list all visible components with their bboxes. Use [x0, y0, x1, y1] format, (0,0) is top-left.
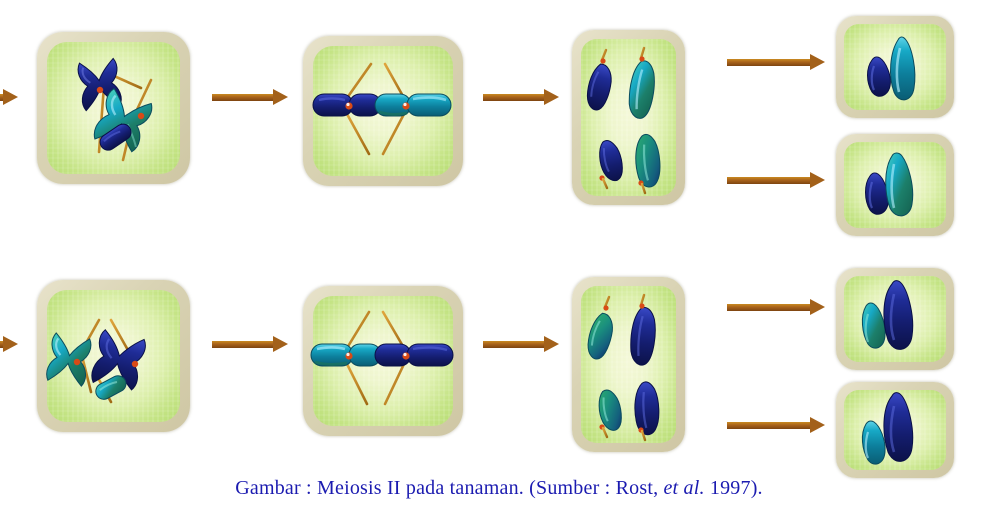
centromere: [603, 305, 608, 310]
caption-italic: et al.: [663, 477, 704, 499]
arrow-telophase-to-daughter-3: [727, 300, 825, 314]
chromosome-group-daughter-2: [836, 134, 954, 236]
chromosome-group-telophase-row1: [572, 30, 685, 205]
centromere-highlight: [403, 353, 406, 356]
centromere-highlight: [403, 103, 406, 106]
arrow-prophase-to-metaphase-row2: [212, 337, 288, 351]
cell-daughter-3: [836, 268, 954, 370]
chromosome-navy: [866, 173, 889, 214]
cell-metaphase-ii-row2: [303, 286, 463, 436]
chromosome-navy-lower-right: [633, 381, 661, 435]
cell-daughter-1: [836, 16, 954, 118]
cell-daughter-2: [836, 134, 954, 236]
cell-prophase-ii-row1: [37, 32, 190, 184]
centromere-teal: [138, 113, 144, 119]
arrow-prophase-to-metaphase-row1: [212, 90, 288, 104]
spindle-stub: [603, 179, 607, 188]
chromosome-navy-upper-right: [628, 306, 658, 366]
chromosome-teal: [862, 303, 885, 348]
chromosome-navy-upper-left: [583, 62, 616, 112]
chromosome-group-daughter-4: [836, 382, 954, 478]
cell-metaphase-ii-row1: [303, 36, 463, 186]
chromosome-teal-right: [375, 94, 451, 116]
chromosome-group-telophase-row2: [572, 277, 685, 452]
centromere: [639, 303, 644, 308]
centromere-navy: [132, 361, 138, 367]
arrow-telophase-to-daughter-2: [727, 173, 825, 187]
chromosome-navy: [868, 57, 891, 96]
chromosome-teal-lower-right: [633, 133, 662, 188]
arrow-metaphase-to-telophase-row2: [483, 337, 559, 351]
chromosome-group-daughter-1: [836, 16, 954, 118]
arrow-into-row1: [0, 90, 18, 104]
chromosome-teal-upper-right: [626, 59, 658, 119]
chromosome-teal: [862, 421, 885, 464]
cell-daughter-4: [836, 382, 954, 478]
caption-prefix: Gambar : Meiosis II pada tanaman. (Sumbe…: [235, 477, 658, 499]
chromosome-teal-upper-left: [583, 311, 618, 361]
arrow-telophase-to-daughter-1: [727, 55, 825, 69]
chromosome-navy-right: [375, 344, 453, 366]
chromosome-group-prophase-row2: [37, 280, 190, 432]
arrow-into-row2: [0, 337, 18, 351]
centromere-highlight: [346, 353, 349, 356]
centromere-highlight: [346, 103, 349, 106]
chromosome-group-metaphase-row2: [303, 286, 463, 436]
cell-telophase-ii-row2: [572, 277, 685, 452]
meiosis-diagram: Gambar : Meiosis II pada tanaman. (Sumbe…: [0, 0, 998, 520]
centromere: [639, 56, 644, 61]
arrow-metaphase-to-telophase-row1: [483, 90, 559, 104]
spindle-stub: [603, 428, 607, 437]
arrow-telophase-to-daughter-4: [727, 418, 825, 432]
centromere-navy: [97, 87, 103, 93]
figure-caption: Gambar : Meiosis II pada tanaman. (Sumbe…: [0, 477, 998, 500]
cell-telophase-ii-row1: [572, 30, 685, 205]
chromosome-teal: [45, 333, 92, 387]
chromosome-teal: [886, 153, 913, 216]
cell-prophase-ii-row2: [37, 280, 190, 432]
chromosome-teal: [891, 37, 915, 100]
chromosome-group-prophase-row1: [37, 32, 190, 184]
chromosome-group-metaphase-row1: [303, 36, 463, 186]
centromere-teal: [74, 359, 80, 365]
chromosome-navy: [884, 281, 913, 350]
centromere: [600, 58, 605, 63]
chromosome-group-daughter-3: [836, 268, 954, 370]
caption-suffix: 1997).: [710, 477, 763, 499]
chromosome-navy: [884, 393, 913, 462]
